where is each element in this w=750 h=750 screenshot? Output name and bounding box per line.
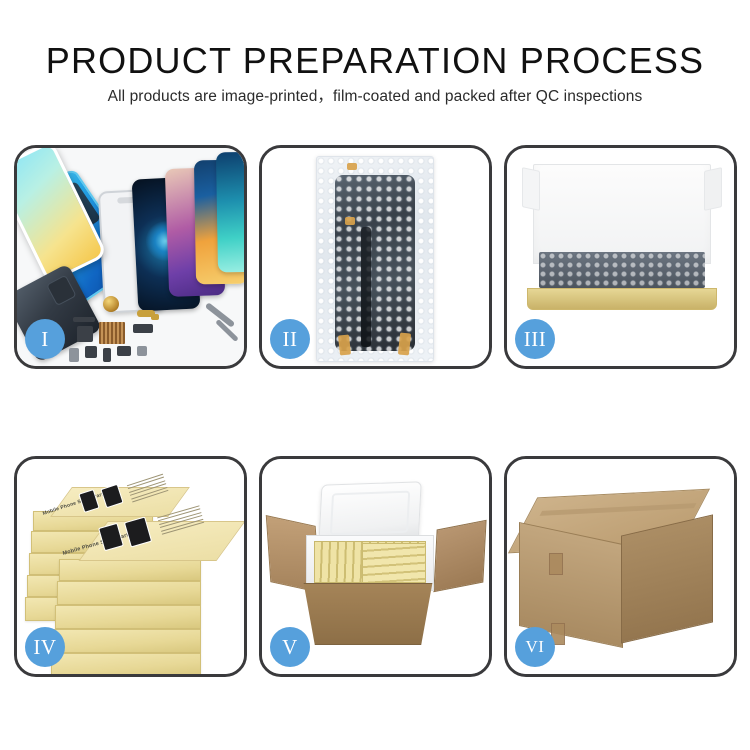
process-step-panel-2[interactable]: II bbox=[259, 145, 492, 369]
carton-right-face-icon bbox=[621, 514, 713, 643]
tape-bottom-right-icon bbox=[398, 332, 411, 355]
carton-tape-upper-icon bbox=[549, 553, 563, 575]
carton-body-icon bbox=[298, 583, 438, 645]
process-step-panel-4[interactable]: Mobile Phone Spare Parts Mobile Phone Sp… bbox=[14, 456, 247, 677]
page-subtitle: All products are image-printed，film-coat… bbox=[0, 88, 750, 106]
antenna-flex-part-icon bbox=[151, 314, 159, 320]
step-badge-5: V bbox=[270, 627, 310, 667]
step-badge-1: I bbox=[25, 319, 65, 359]
step-badge-3: III bbox=[515, 319, 555, 359]
bubble-wrap-layer-icon bbox=[539, 252, 705, 288]
step-badge-6: VI bbox=[515, 627, 555, 667]
teal-gradient-phone-icon bbox=[216, 152, 244, 273]
white-foam-lid-icon bbox=[533, 164, 711, 264]
metal-bracket-part-icon bbox=[69, 348, 79, 362]
screw-set-part-icon bbox=[137, 346, 147, 356]
tape-bottom-left-icon bbox=[338, 334, 351, 355]
speaker-coil-part-icon bbox=[103, 296, 119, 312]
ribbon-cable-part-icon bbox=[77, 326, 93, 342]
step-badge-2: II bbox=[270, 319, 310, 359]
retail-box-front-1 bbox=[51, 653, 201, 674]
flex-cable-strip-icon bbox=[361, 227, 371, 347]
step-2-image: II bbox=[262, 148, 489, 366]
process-step-panel-6[interactable]: VI bbox=[504, 456, 737, 677]
tape-top-icon bbox=[347, 163, 357, 170]
carton-flap-right-icon bbox=[433, 520, 486, 593]
product-preparation-infographic: PRODUCT PREPARATION PROCESS All products… bbox=[0, 0, 750, 750]
process-step-panel-1[interactable]: I bbox=[14, 145, 247, 369]
sim-tray-part-icon bbox=[103, 348, 111, 362]
carton-front-panel-icon bbox=[527, 288, 717, 310]
process-step-panel-5[interactable]: V bbox=[259, 456, 492, 677]
camera-module-part-icon bbox=[133, 324, 153, 333]
retail-box-front-3 bbox=[55, 605, 201, 629]
step-badge-4: IV bbox=[25, 627, 65, 667]
page-title: PRODUCT PREPARATION PROCESS bbox=[0, 42, 750, 80]
vibrator-part-icon bbox=[85, 346, 97, 358]
retail-box-front-2 bbox=[53, 629, 201, 653]
header: PRODUCT PREPARATION PROCESS All products… bbox=[0, 0, 750, 120]
retail-box-front-5 bbox=[59, 559, 201, 581]
process-step-grid: I II bbox=[14, 145, 738, 677]
earpiece-part-icon bbox=[117, 346, 131, 356]
step-6-image: VI bbox=[507, 459, 734, 674]
bubble-wrap-bag-icon bbox=[316, 156, 434, 362]
tape-middle-icon bbox=[345, 217, 355, 225]
step-4-image: Mobile Phone Spare Parts Mobile Phone Sp… bbox=[17, 459, 244, 674]
process-step-panel-3[interactable]: III bbox=[504, 145, 737, 369]
chip-array-part-icon bbox=[99, 322, 125, 344]
packed-retail-boxes-secondary-icon bbox=[362, 543, 426, 583]
step-1-image: I bbox=[17, 148, 244, 366]
step-5-image: V bbox=[262, 459, 489, 674]
retail-box-front-4 bbox=[57, 581, 201, 605]
step-3-image: III bbox=[507, 148, 734, 366]
wrapped-lcd-assembly-icon bbox=[335, 175, 415, 351]
battery-connector-part-icon bbox=[73, 317, 95, 322]
